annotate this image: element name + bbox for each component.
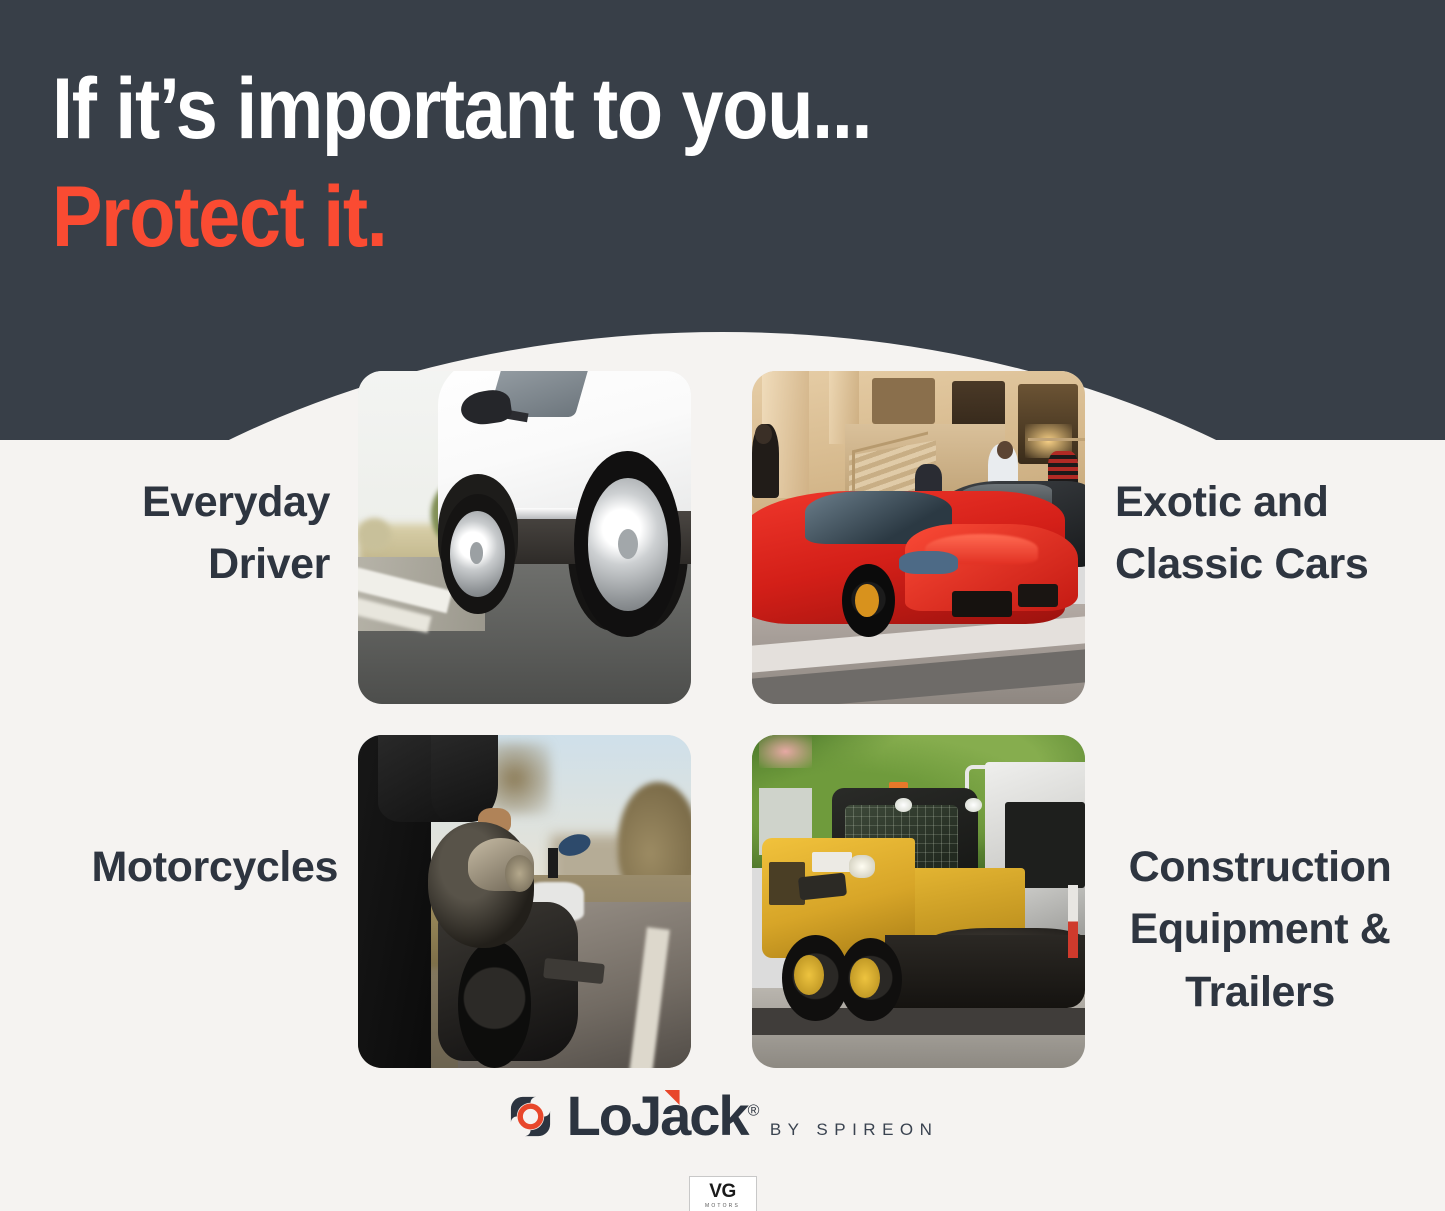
category-image-exotic-classic-cars	[752, 371, 1085, 704]
label-line: Classic Cars	[1115, 533, 1435, 595]
headline-line-1: If it’s important to you...	[52, 66, 871, 152]
photo-suv-on-road	[358, 371, 691, 704]
label-line: Equipment &	[1095, 898, 1425, 960]
lojack-wordmark: LoJack® BY SPIREON	[567, 1088, 939, 1144]
label-line: Construction	[1095, 836, 1425, 898]
footer: LoJack® BY SPIREON VG MOTORS	[0, 1080, 1445, 1211]
category-image-motorcycles	[358, 735, 691, 1068]
headline: If it’s important to you... Protect it.	[52, 66, 983, 260]
label-line: Exotic and	[1115, 471, 1435, 533]
category-label-motorcycles: Motorcycles	[20, 836, 338, 898]
promo-poster: If it’s important to you... Protect it. …	[0, 0, 1445, 1211]
lojack-tagline: BY SPIREON	[764, 1120, 939, 1139]
category-label-construction-equipment-trailers: Construction Equipment & Trailers	[1095, 836, 1425, 1023]
vg-motors-watermark: VG MOTORS	[689, 1176, 757, 1211]
category-image-construction-equipment	[752, 735, 1085, 1068]
lojack-brand-text: LoJack	[567, 1084, 748, 1147]
category-image-everyday-driver	[358, 371, 691, 704]
category-label-everyday-driver: Everyday Driver	[20, 471, 330, 596]
photo-skid-steer-loader	[752, 735, 1085, 1068]
registered-trademark-icon: ®	[748, 1102, 760, 1119]
label-line: Everyday	[20, 471, 330, 533]
lojack-shutter-icon	[507, 1093, 554, 1140]
label-line: Trailers	[1095, 961, 1425, 1023]
lojack-logo: LoJack® BY SPIREON	[0, 1088, 1445, 1144]
category-label-exotic-classic-cars: Exotic and Classic Cars	[1115, 471, 1435, 596]
vg-motors-subtitle: MOTORS	[705, 1203, 740, 1209]
label-line: Driver	[20, 533, 330, 595]
category-grid: Everyday Driver Exotic and Classic Cars …	[0, 371, 1445, 1071]
lojack-brand-name: LoJack®	[567, 1088, 760, 1144]
label-line: Motorcycles	[20, 836, 338, 898]
photo-motorcycle-rider	[358, 735, 691, 1068]
vg-motors-initials: VG	[709, 1182, 735, 1201]
photo-red-supercar	[752, 371, 1085, 704]
headline-line-2: Protect it.	[52, 174, 871, 260]
